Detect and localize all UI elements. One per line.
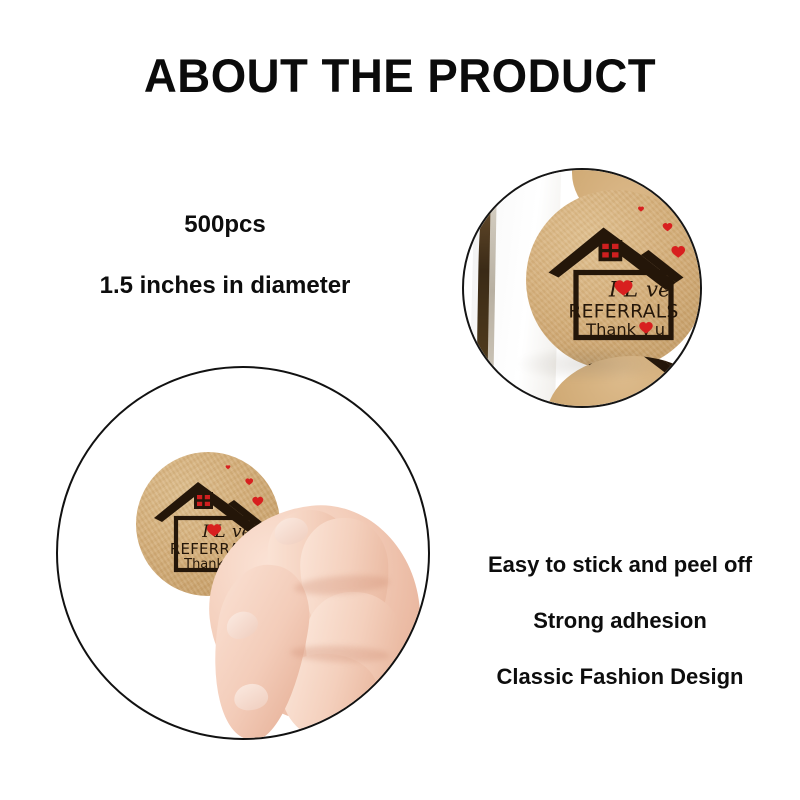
- page-title: ABOUT THE PRODUCT: [12, 48, 788, 103]
- svg-text:u: u: [655, 320, 665, 339]
- heart-smoke: [226, 465, 264, 506]
- roll-shadow: [516, 346, 666, 382]
- feature-list: Easy to stick and peel off Strong adhesi…: [455, 552, 785, 690]
- sticker-artwork: I L ve REFERRALS Thank y u: [526, 190, 702, 370]
- sticker-roll-front: I L ve REFERRALS Thank y u: [526, 190, 702, 370]
- svg-text:ve: ve: [646, 277, 671, 302]
- hand-photo-circle: I L ve REFERRALS Thank y u: [56, 366, 430, 740]
- hand-photo: I L ve REFERRALS Thank y u: [58, 368, 428, 738]
- roll-photo: I L ve REFERRALS Thank y u: [464, 170, 700, 406]
- spec-quantity: 500pcs: [130, 211, 320, 239]
- feature-item: Easy to stick and peel off: [455, 552, 785, 578]
- spec-diameter: 1.5 inches in diameter: [60, 272, 390, 300]
- roll-photo-circle: I L ve REFERRALS Thank y u: [462, 168, 702, 408]
- feature-item: Classic Fashion Design: [455, 664, 785, 690]
- heart-smoke: [638, 206, 685, 257]
- feature-item: Strong adhesion: [455, 608, 785, 634]
- product-infographic: ABOUT THE PRODUCT 500pcs 1.5 inches in d…: [0, 0, 800, 800]
